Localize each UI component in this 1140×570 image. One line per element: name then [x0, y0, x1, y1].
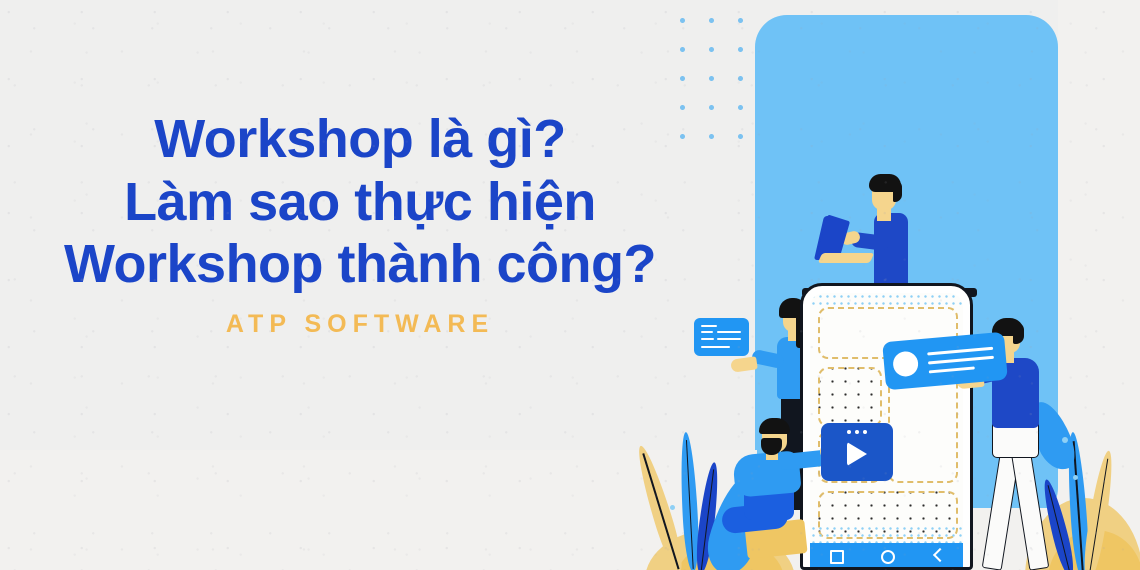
screen-bottom-speckle — [810, 525, 963, 543]
avatar — [892, 350, 919, 377]
phone-navigation-bar[interactable] — [810, 543, 963, 567]
play-button-icon[interactable] — [847, 442, 867, 466]
dot-decor-3 — [670, 505, 675, 510]
profile-card-line-2 — [928, 356, 994, 364]
video-menu-dots-icon — [847, 430, 867, 434]
video-play-card[interactable] — [821, 423, 893, 481]
profile-card-line-1 — [927, 347, 993, 355]
poster-canvas: Workshop là gì? Làm sao thực hiện Worksh… — [0, 0, 1140, 570]
text-card-line-3 — [717, 331, 741, 333]
text-card-line-4 — [701, 338, 714, 340]
back-chevron-icon[interactable] — [932, 550, 943, 561]
headline-line-3: Workshop thành công? — [0, 233, 720, 296]
laptop-person-hair-side — [893, 180, 902, 202]
text-card-line-2 — [701, 331, 713, 333]
square-icon[interactable] — [830, 550, 841, 561]
leaf-vein — [685, 440, 693, 569]
text-content-card — [694, 318, 749, 356]
brand-subtitle: ATP SOFTWARE — [0, 310, 720, 339]
laptop-person-torso — [874, 213, 908, 291]
headline-line-2: Làm sao thực hiện — [0, 171, 720, 234]
screen-placeholder-mid-left — [818, 367, 882, 427]
text-card-line-6 — [701, 346, 730, 348]
laptop-base — [818, 253, 874, 263]
placing-man-hair-side — [1013, 322, 1024, 344]
text-card-line-5 — [717, 338, 741, 340]
headline-line-1: Workshop là gì? — [0, 108, 720, 171]
circle-icon[interactable] — [881, 550, 892, 561]
screen-top-speckle — [810, 293, 963, 309]
kneeling-man-hair — [759, 418, 790, 434]
text-card-line-1 — [701, 325, 717, 327]
dot-decor-1 — [1062, 437, 1068, 443]
text-block: Workshop là gì? Làm sao thực hiện Worksh… — [0, 108, 720, 339]
dot-decor-2 — [1073, 475, 1078, 480]
woman-hand — [730, 356, 758, 372]
profile-card-line-3 — [929, 366, 975, 373]
